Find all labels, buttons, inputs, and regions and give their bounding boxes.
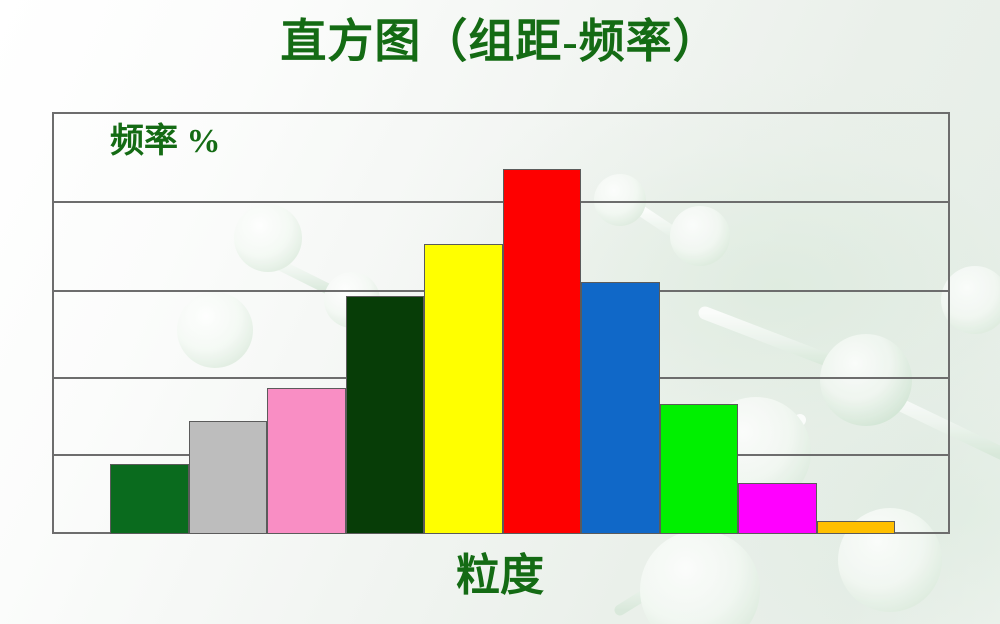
bar-4-forest-green xyxy=(346,296,425,534)
y-axis-label: 频率 % xyxy=(110,120,221,164)
bar-8-green xyxy=(660,404,739,534)
bar-1-dark-green xyxy=(110,464,189,534)
bar-9-magenta xyxy=(738,483,817,534)
slide-canvas: 直方图（组距-频率） 频率 % 粒度 xyxy=(0,0,1000,624)
bar-10-gold xyxy=(817,521,896,534)
bar-5-yellow xyxy=(424,244,503,534)
bar-3-pink xyxy=(267,388,346,534)
bar-7-blue xyxy=(581,282,660,534)
x-axis-label: 粒度 xyxy=(0,548,1000,604)
bar-2-gray xyxy=(189,421,268,534)
slide-title: 直方图（组距-频率） xyxy=(0,14,1000,70)
chart-bars xyxy=(52,112,950,534)
bar-6-red xyxy=(503,169,582,534)
